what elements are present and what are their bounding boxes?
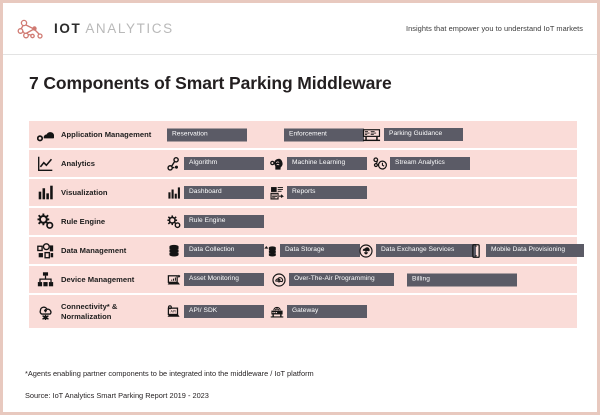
category-label: Device Management xyxy=(61,275,134,284)
cloud-upload-icon xyxy=(272,273,286,287)
network-nodes-icon xyxy=(17,18,45,40)
component-chip-label[interactable]: Reservation xyxy=(167,128,247,141)
brand-primary: IOT xyxy=(54,21,81,36)
matrix-row: Device ManagementAsset MonitoringOver-Th… xyxy=(29,266,577,295)
component-chip-label[interactable]: Data Exchange Services xyxy=(376,244,476,257)
category-label: Rule Engine xyxy=(61,217,105,226)
category-application-management: Application Management xyxy=(29,126,167,143)
matrix-row: VisualizationDashboardReports xyxy=(29,179,577,208)
category-device-management: Device Management xyxy=(29,271,167,288)
component-over-the-air-programming[interactable]: Over-The-Air Programming xyxy=(272,273,394,287)
category-analytics: Analytics xyxy=(29,155,167,172)
component-algorithm[interactable]: Algorithm xyxy=(167,157,264,171)
category-rule-engine: Rule Engine xyxy=(29,213,167,230)
mobile-phone-icon xyxy=(469,244,483,258)
component-chip-label[interactable]: Gateway xyxy=(287,305,367,318)
matrix-row: Rule EngineRule Engine xyxy=(29,208,577,237)
component-chip-label[interactable]: Stream Analytics xyxy=(390,157,470,170)
matrix-row: AnalyticsAlgorithmMachine LearningStream… xyxy=(29,150,577,179)
component-chip-label[interactable]: Machine Learning xyxy=(287,157,367,170)
component-chip-label[interactable]: Billing xyxy=(407,273,517,286)
component-chip-label[interactable]: Data Collection xyxy=(184,244,264,257)
component-machine-learning[interactable]: Machine Learning xyxy=(270,157,367,171)
component-stream-analytics[interactable]: Stream Analytics xyxy=(373,157,470,171)
slide-page: IOTANALYTICS Insights that empower you t… xyxy=(0,0,600,415)
category-label: Connectivity* &Normalization xyxy=(61,302,117,321)
component-chip-label[interactable]: Parking Guidance xyxy=(384,128,463,141)
matrix-row: Application ManagementReservationEnforce… xyxy=(29,121,577,150)
gears-icon xyxy=(167,215,181,229)
component-parking-guidance[interactable]: Parking Guidance xyxy=(362,128,463,142)
component-api-sdk[interactable]: APIAPI/ SDK xyxy=(167,305,264,319)
component-chip-label[interactable]: Asset Monitoring xyxy=(184,273,264,286)
category-label: Analytics xyxy=(61,159,95,168)
component-chip-label[interactable]: Mobile Data Provisioning xyxy=(486,244,584,257)
bar-chart-icon xyxy=(37,184,54,201)
component-rule-engine[interactable]: Rule Engine xyxy=(167,215,264,229)
api-laptop-icon: API xyxy=(167,305,181,319)
brand-wordmark: IOTANALYTICS xyxy=(54,22,174,36)
header-tagline: Insights that empower you to understand … xyxy=(406,24,583,33)
category-label: Visualization xyxy=(61,188,108,197)
component-chip-label[interactable]: API/ SDK xyxy=(184,305,264,318)
dashboard-chart-icon xyxy=(167,186,181,200)
stream-clock-icon xyxy=(373,157,387,171)
matrix-row: Data ManagementData CollectionData Stora… xyxy=(29,237,577,266)
component-dashboard[interactable]: Dashboard xyxy=(167,186,264,200)
component-chip-label[interactable]: Dashboard xyxy=(184,186,264,199)
component-data-exchange-services[interactable]: Data Exchange Services xyxy=(359,244,476,258)
component-data-storage[interactable]: Data Storage xyxy=(263,244,360,258)
cloud-app-icon xyxy=(37,126,54,143)
category-label: Application Management xyxy=(61,130,151,139)
component-reservation[interactable]: Reservation xyxy=(167,128,247,141)
component-data-collection[interactable]: Data Collection xyxy=(167,244,264,258)
component-mobile-data-provisioning[interactable]: Mobile Data Provisioning xyxy=(469,244,584,258)
database-stack-icon xyxy=(167,244,181,258)
component-chip-label[interactable]: Algorithm xyxy=(184,157,264,170)
brain-head-icon xyxy=(270,157,284,171)
device-tree-icon xyxy=(37,271,54,288)
component-reports[interactable]: Reports xyxy=(270,186,367,200)
component-chip-label[interactable]: Enforcement xyxy=(284,128,364,141)
component-gateway[interactable]: Gateway xyxy=(270,305,367,319)
component-billing[interactable]: Billing xyxy=(407,273,517,286)
cloud-download-icon xyxy=(359,244,373,258)
svg-text:API: API xyxy=(171,309,177,313)
footnote: *Agents enabling partner components to b… xyxy=(25,369,314,378)
category-connectivity-normalization: Connectivity* &Normalization xyxy=(29,302,167,321)
cloud-network-icon xyxy=(37,303,54,320)
gears-icon xyxy=(37,213,54,230)
source-note: Source: IoT Analytics Smart Parking Repo… xyxy=(25,391,209,400)
category-visualization: Visualization xyxy=(29,184,167,201)
component-enforcement[interactable]: Enforcement xyxy=(284,128,364,141)
report-document-icon xyxy=(270,186,284,200)
category-label: Data Management xyxy=(61,246,126,255)
page-title: 7 Components of Smart Parking Middleware xyxy=(29,73,392,94)
gateway-device-icon xyxy=(270,305,284,319)
parking-sign-board-icon xyxy=(362,128,381,142)
laptop-monitor-icon xyxy=(167,273,181,287)
database-upload-icon xyxy=(263,244,277,258)
brand-logo: IOTANALYTICS xyxy=(17,18,174,40)
category-data-management: Data Management xyxy=(29,242,167,259)
components-matrix: Application ManagementReservationEnforce… xyxy=(29,121,577,328)
component-chip-label[interactable]: Rule Engine xyxy=(184,215,264,228)
component-chip-label[interactable]: Data Storage xyxy=(280,244,360,257)
page-header: IOTANALYTICS Insights that empower you t… xyxy=(3,3,597,55)
component-asset-monitoring[interactable]: Asset Monitoring xyxy=(167,273,264,287)
brand-secondary: ANALYTICS xyxy=(85,21,173,36)
component-chip-label[interactable]: Reports xyxy=(287,186,367,199)
data-nodes-icon xyxy=(37,242,54,259)
algorithm-nodes-icon xyxy=(167,157,181,171)
line-chart-icon xyxy=(37,155,54,172)
matrix-row: Connectivity* &NormalizationAPIAPI/ SDKG… xyxy=(29,295,577,328)
component-chip-label[interactable]: Over-The-Air Programming xyxy=(289,273,394,286)
